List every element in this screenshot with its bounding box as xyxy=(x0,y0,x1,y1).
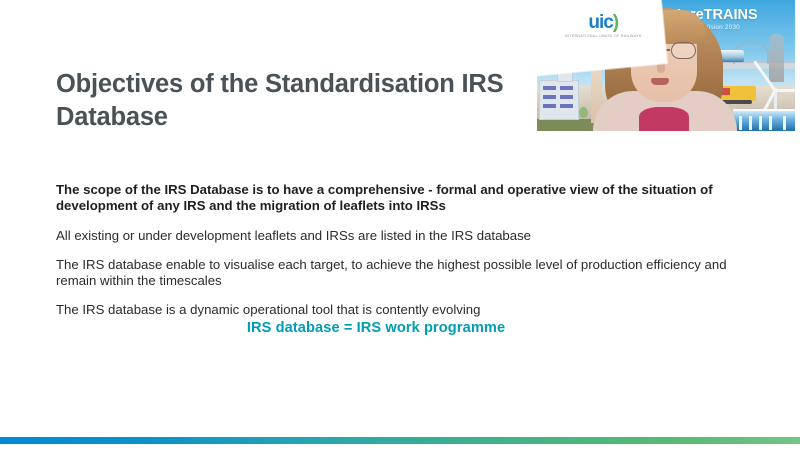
uic-logo-mark: uic) xyxy=(555,13,651,32)
turbine-blade-icon xyxy=(775,89,795,92)
slide-body: The scope of the IRS Database is to have… xyxy=(56,182,756,319)
uic-logo: uic) INTERNATIONAL UNION OF RAILWAYS xyxy=(555,13,651,39)
body-paragraph-3: The IRS database enable to visualise eac… xyxy=(56,257,756,289)
body-paragraph-1: The scope of the IRS Database is to have… xyxy=(56,182,756,214)
body-paragraph-4: The IRS database is a dynamic operationa… xyxy=(56,302,756,318)
page-title: Objectives of the Standardisation IRS Da… xyxy=(56,68,526,133)
tram-illustration-icon xyxy=(733,109,795,131)
highlight-statement: IRS database = IRS work programme xyxy=(56,320,696,336)
speaker-collar xyxy=(639,107,689,131)
uic-logo-text: uic xyxy=(588,12,612,33)
presentation-slide: Objectives of the Standardisation IRS Da… xyxy=(0,0,800,450)
uic-leaf-icon: ) xyxy=(613,12,618,33)
footer-gradient-bar xyxy=(0,437,800,444)
uic-logo-subtitle: INTERNATIONAL UNION OF RAILWAYS xyxy=(555,34,651,39)
speaker-mouth xyxy=(651,78,669,85)
body-paragraph-2: All existing or under development leafle… xyxy=(56,228,756,244)
video-call-overlay[interactable]: MoreTRAINS Global Rail Vision 2030 uic) xyxy=(537,0,795,131)
factory-illustration-icon xyxy=(769,34,784,82)
